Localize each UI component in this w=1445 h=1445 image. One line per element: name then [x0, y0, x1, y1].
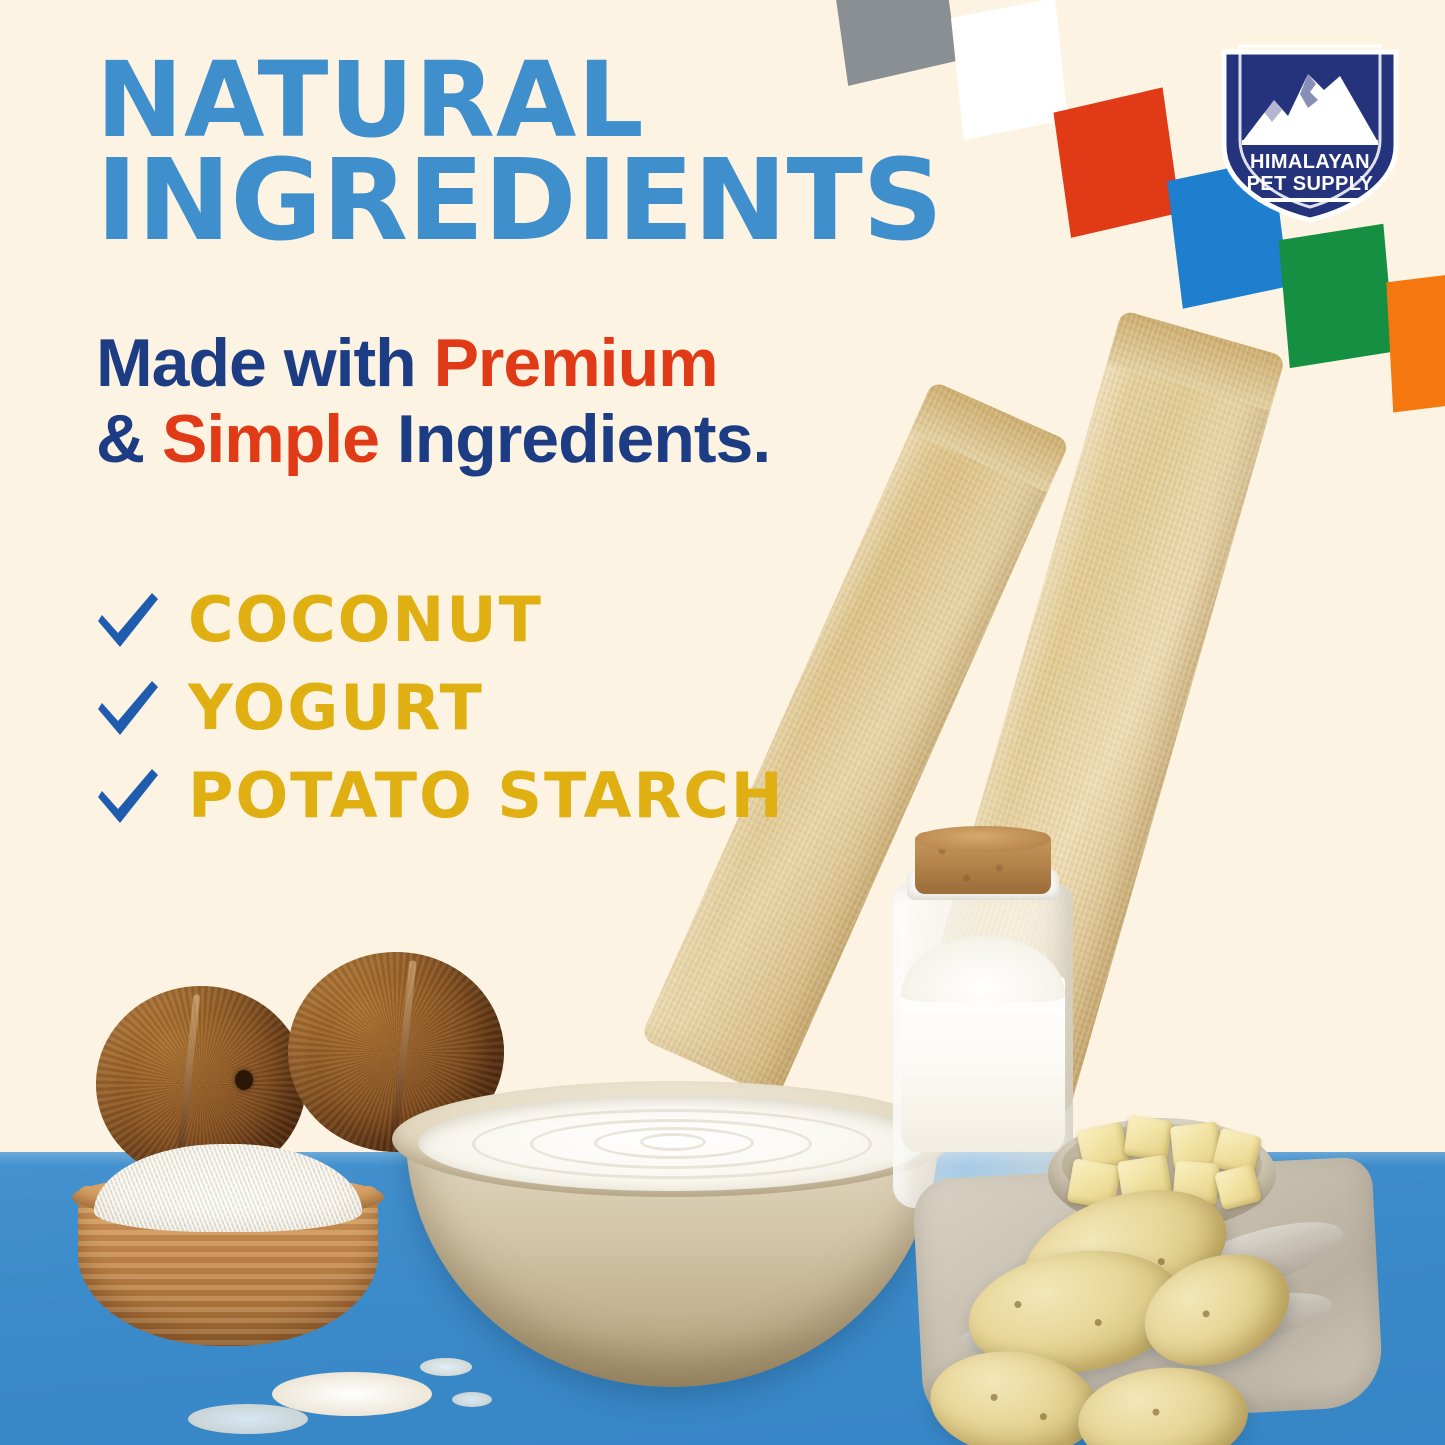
himalayan-pet-supply-logo[interactable]: HIMALAYAN PET SUPPLY: [1212, 34, 1408, 226]
ingredient-label-potato-starch: POTATO STARCH: [188, 759, 785, 832]
list-item: COCONUT: [92, 575, 992, 663]
subheadline-accent-premium: Premium: [434, 325, 718, 401]
coconut-spill: [452, 1392, 492, 1407]
shredded-coconut: [94, 1144, 362, 1232]
starch-powder: [901, 976, 1065, 1152]
flag-orange: [1386, 270, 1445, 413]
logo-line2: PET SUPPLY: [1247, 173, 1374, 195]
ingredient-list: COCONUT YOGURT POTATO STARCH: [92, 575, 992, 839]
check-icon: [92, 583, 164, 655]
yogurt-bowl: [392, 1065, 952, 1385]
potato-starch-jar: [893, 828, 1073, 1208]
subheadline-text-ampersand: &: [96, 401, 162, 477]
check-icon: [92, 759, 164, 831]
ingredient-label-yogurt: YOGURT: [188, 671, 484, 744]
logo-line1: HIMALAYAN: [1250, 151, 1370, 173]
flag-green: [1279, 224, 1395, 368]
headline-line-1: NATURAL: [96, 52, 996, 149]
ingredient-label-coconut: COCONUT: [188, 583, 543, 656]
cork-top: [915, 826, 1051, 852]
headline-line-2: INGREDIENTS: [96, 149, 996, 253]
list-item: YOGURT: [92, 663, 992, 751]
shredded-coconut-basket: [78, 1130, 378, 1350]
list-item: POTATO STARCH: [92, 751, 992, 839]
subheadline-line-1: Made with Premium: [96, 325, 976, 401]
page-title: NATURAL INGREDIENTS: [96, 52, 996, 253]
product-marketing-image: HIMALAYAN PET SUPPLY NATURAL INGREDIENTS…: [0, 0, 1445, 1445]
potato-cube: [1123, 1115, 1172, 1161]
yogurt-surface: [418, 1095, 926, 1191]
coconut-spill: [188, 1404, 308, 1434]
check-icon: [92, 671, 164, 743]
subheadline: Made with Premium & Simple Ingredients.: [96, 325, 976, 477]
subheadline-text-ingredients: Ingredients.: [379, 401, 770, 477]
subheadline-line-2: & Simple Ingredients.: [96, 401, 976, 477]
subheadline-text-made-with: Made with: [96, 325, 434, 401]
flag-red: [1053, 87, 1180, 237]
subheadline-accent-simple: Simple: [162, 401, 379, 477]
